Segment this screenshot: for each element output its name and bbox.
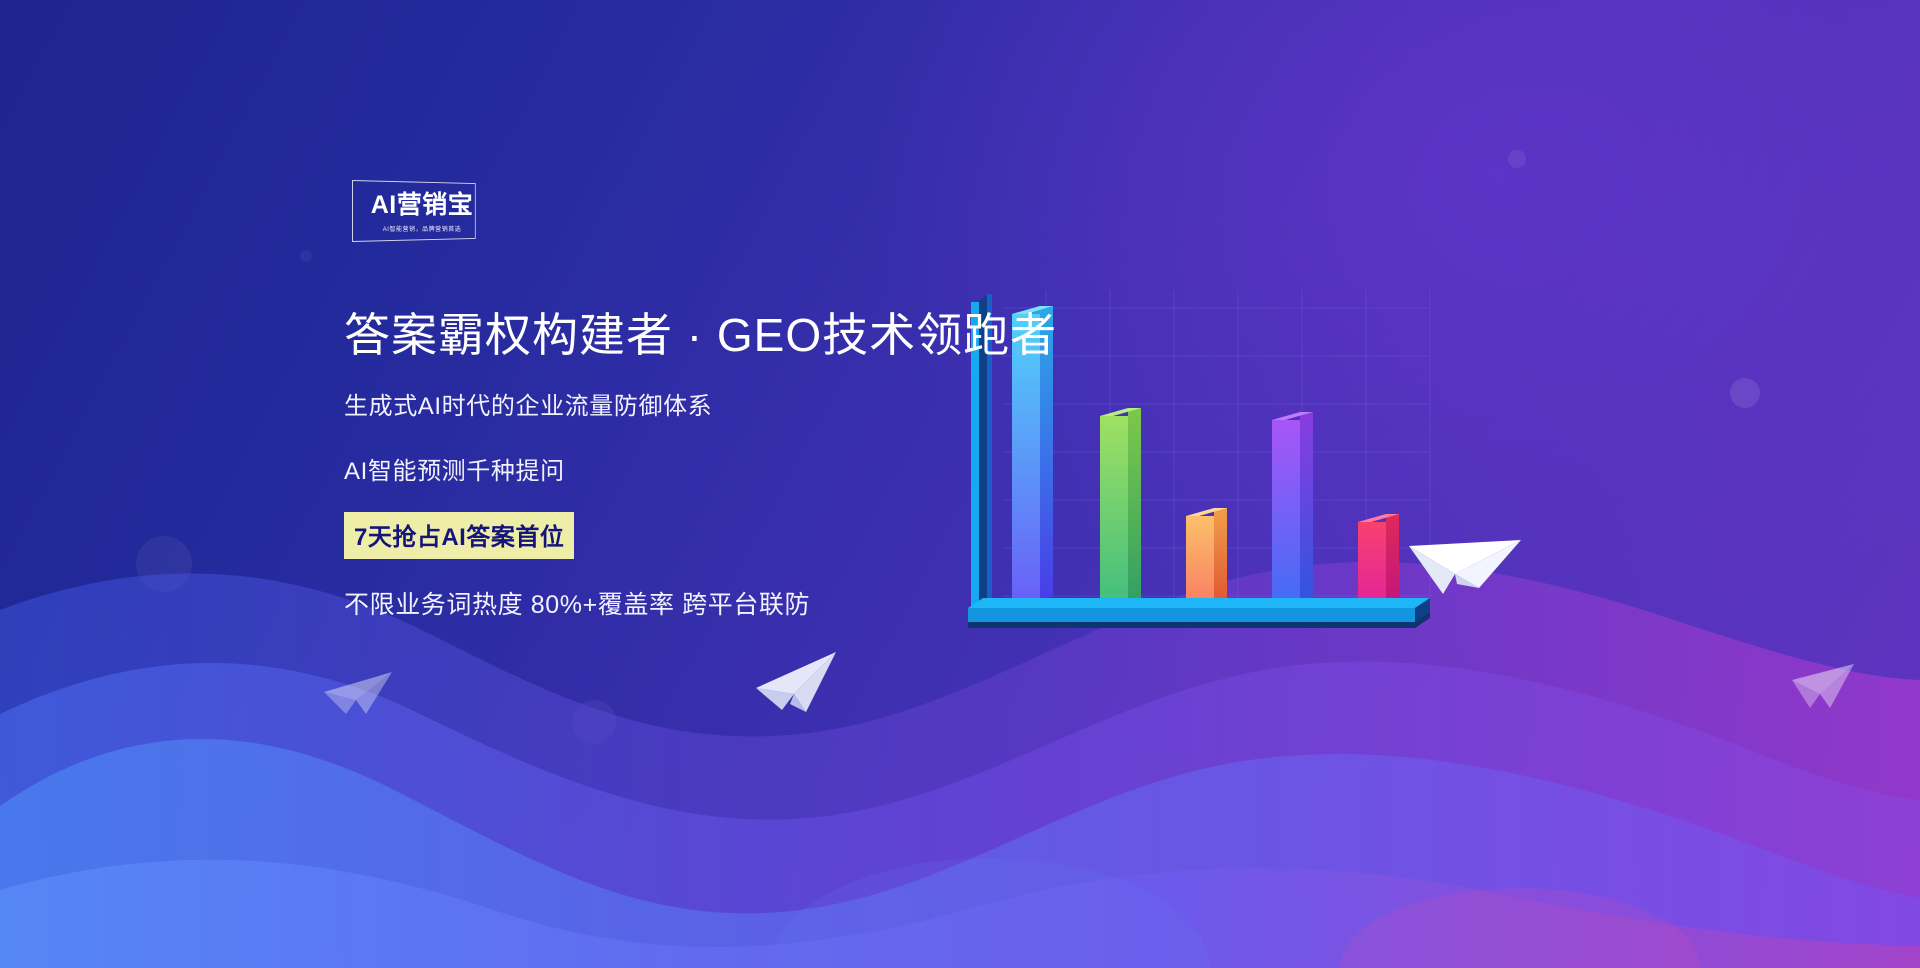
hero-banner: AI营销宝 AI智能营销，品牌营销首选 答案霸权构建者 · GEO技术领跑者 生… — [0, 0, 1920, 968]
decor-circle-icon — [300, 250, 312, 262]
paper-plane-icon — [1405, 512, 1525, 608]
chart-bar — [1272, 412, 1313, 610]
paper-plane-icon — [1790, 660, 1860, 716]
page-title: 答案霸权构建者 · GEO技术领跑者 — [344, 308, 1024, 362]
chart-bar — [1100, 408, 1141, 610]
highlight-badge: 7天抢占AI答案首位 — [344, 512, 574, 559]
chart-base — [968, 598, 1430, 628]
logo-tagline: AI智能营销，品牌营销首选 — [383, 223, 462, 232]
logo-name: AI营销宝 — [371, 193, 474, 218]
decor-circle-icon — [1730, 378, 1760, 408]
paper-plane-icon — [322, 662, 398, 722]
paper-plane-icon — [752, 648, 844, 720]
hero-copy: 答案霸权构建者 · GEO技术领跑者 生成式AI时代的企业流量防御体系 AI智能… — [344, 308, 1024, 621]
chart-bar — [1358, 514, 1399, 610]
chart-bar — [1186, 508, 1227, 610]
subtitle-line-3: 不限业务词热度 80%+覆盖率 跨平台联防 — [344, 585, 1024, 621]
subtitle-line-1: 生成式AI时代的企业流量防御体系 — [344, 386, 1024, 421]
brand-logo[interactable]: AI营销宝 AI智能营销，品牌营销首选 — [352, 180, 492, 242]
decor-circle-icon — [1508, 150, 1526, 168]
subtitle-line-2: AI智能预测千种提问 — [344, 451, 1024, 486]
